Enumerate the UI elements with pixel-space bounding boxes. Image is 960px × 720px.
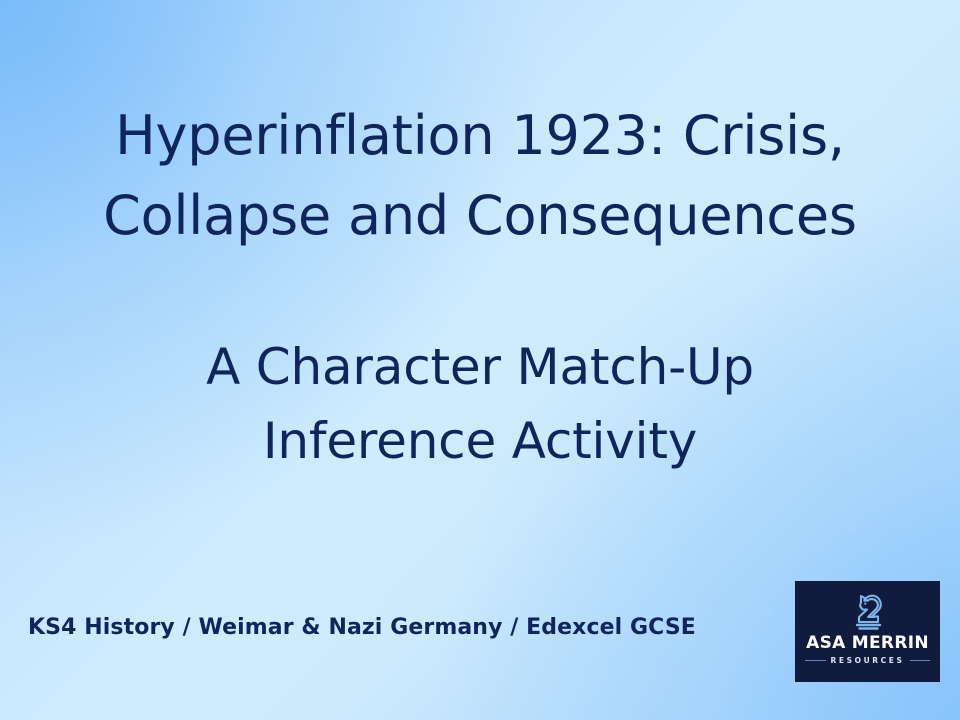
slide-subtitle: A Character Match-Up Inference Activity (0, 330, 960, 478)
logo-tagline-row: RESOURCES (805, 657, 930, 665)
logo-rule-left (805, 660, 826, 661)
logo-wordmark: ASA MERRIN (806, 635, 929, 652)
asa-merrin-logo: ASA MERRIN RESOURCES (795, 581, 940, 682)
slide-title: Hyperinflation 1923: Crisis, Collapse an… (0, 96, 960, 256)
logo-rule-right (910, 660, 931, 661)
chess-knight-icon (848, 588, 888, 632)
logo-tagline: RESOURCES (826, 657, 910, 665)
title-slide: Hyperinflation 1923: Crisis, Collapse an… (0, 0, 960, 720)
slide-footer-course-info: KS4 History / Weimar & Nazi Germany / Ed… (28, 615, 696, 640)
